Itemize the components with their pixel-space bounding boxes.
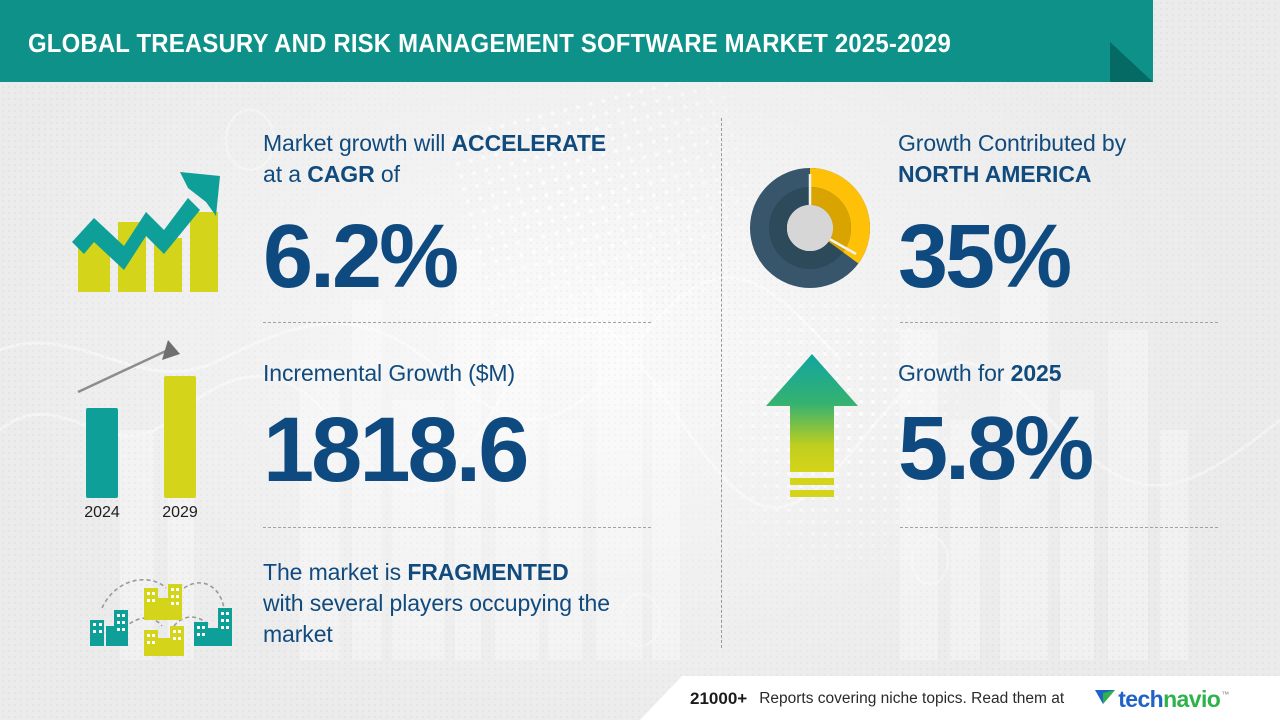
incremental-growth-label: Incremental Growth ($M)	[263, 358, 663, 389]
page-title: GLOBAL TREASURY AND RISK MANAGEMENT SOFT…	[28, 28, 951, 59]
growth-2025-caption: Growth for 2025	[898, 358, 1228, 389]
growth-2025-value: 5.8%	[898, 404, 1091, 494]
technavio-logo[interactable]: tech navio ™	[1094, 686, 1229, 713]
banner-fold-shadow	[1110, 42, 1153, 82]
bar-label-2024: 2024	[84, 504, 120, 520]
cagr-line2-post: of	[375, 161, 400, 187]
logo-text-tech: tech	[1118, 686, 1163, 713]
bar-comparison-icon: 2024 2029	[68, 330, 228, 520]
growth-chart-icon	[68, 150, 228, 300]
divider-right-1	[900, 322, 1218, 323]
frag-line2: with several players occupying the	[263, 590, 610, 616]
frag-line1-bold: FRAGMENTED	[407, 559, 568, 585]
divider-right-2	[900, 527, 1218, 528]
frag-line1-pre: The market is	[263, 559, 407, 585]
header-banner: GLOBAL TREASURY AND RISK MANAGEMENT SOFT…	[0, 0, 1153, 82]
north-america-caption: Growth Contributed by NORTH AMERICA	[898, 128, 1228, 190]
up-arrow-icon	[762, 350, 862, 510]
cagr-line1-pre: Market growth will	[263, 130, 452, 156]
city-cluster-icon	[62, 560, 252, 660]
footer-tagline: Reports covering niche topics. Read them…	[759, 690, 1064, 708]
g25-label-bold: 2025	[1011, 360, 1062, 386]
divider-left-1	[263, 322, 651, 323]
cagr-line2-pre: at a	[263, 161, 307, 187]
footer-report-count: 21000+	[690, 689, 747, 709]
incremental-growth-value: 1818.6	[263, 404, 526, 496]
cagr-caption: Market growth will ACCELERATE at a CAGR …	[263, 128, 663, 190]
na-line2-bold: NORTH AMERICA	[898, 161, 1091, 187]
cagr-line2-bold: CAGR	[307, 161, 374, 187]
infographic-canvas: GLOBAL TREASURY AND RISK MANAGEMENT SOFT…	[0, 0, 1280, 720]
cagr-line1-bold: ACCELERATE	[452, 130, 606, 156]
donut-chart-icon	[748, 166, 872, 290]
divider-left-2	[263, 527, 651, 528]
frag-line3: market	[263, 621, 333, 647]
fragmentation-caption: The market is FRAGMENTED with several pl…	[263, 557, 683, 650]
na-line1: Growth Contributed by	[898, 130, 1126, 156]
bar-label-2029: 2029	[162, 504, 198, 520]
footer-content: 21000+ Reports covering niche topics. Re…	[690, 686, 1229, 712]
cagr-value: 6.2%	[263, 212, 456, 302]
logo-trademark: ™	[1221, 690, 1229, 699]
g25-label-pre: Growth for	[898, 360, 1011, 386]
technavio-mark-icon	[1094, 687, 1116, 707]
north-america-value: 35%	[898, 212, 1069, 302]
logo-text-navio: navio	[1163, 686, 1220, 713]
vertical-divider	[721, 118, 722, 648]
